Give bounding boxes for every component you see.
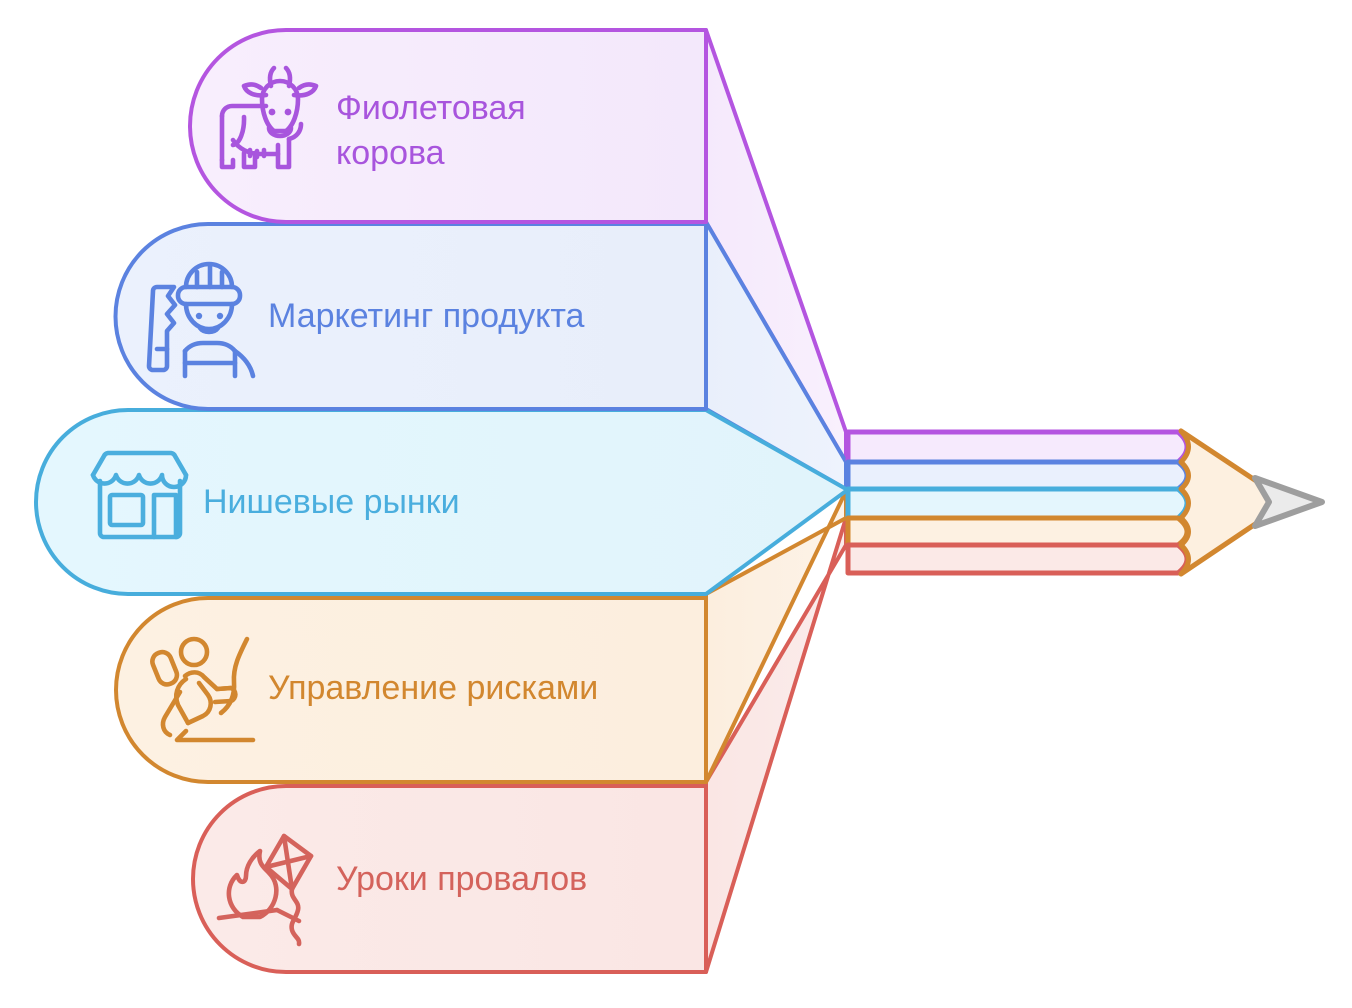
- pencil-band-purple: [848, 432, 1187, 462]
- pencil-band-cyan: [848, 489, 1187, 518]
- infographic-canvas: Уроки провалов: [0, 0, 1352, 1008]
- card-risk-management[interactable]: Управление рисками: [116, 598, 706, 782]
- card-label-line1: Фиолетовая: [336, 89, 526, 127]
- card-label-line2: корова: [336, 134, 445, 172]
- card-label: Маркетинг продукта: [268, 297, 585, 335]
- card-niche-markets[interactable]: Нишевые рынки: [36, 410, 846, 594]
- card-product-marketing[interactable]: Маркетинг продукта: [116, 224, 707, 409]
- card-label: Уроки провалов: [336, 860, 587, 898]
- card-purple-cow[interactable]: Фиолетовая корова: [190, 30, 706, 222]
- pencil-funnel-diagram: Уроки провалов: [0, 0, 1352, 1008]
- pencil-band-blue: [848, 462, 1187, 489]
- pencil-body: [848, 432, 1187, 573]
- pencil-tip-group: [1181, 431, 1322, 574]
- pencil-band-red: [848, 545, 1187, 573]
- card-label: Нишевые рынки: [203, 483, 460, 521]
- card-failure-lessons[interactable]: Уроки провалов: [193, 786, 706, 972]
- card-label: Управление рисками: [268, 669, 598, 707]
- pencil-band-orange: [848, 518, 1187, 545]
